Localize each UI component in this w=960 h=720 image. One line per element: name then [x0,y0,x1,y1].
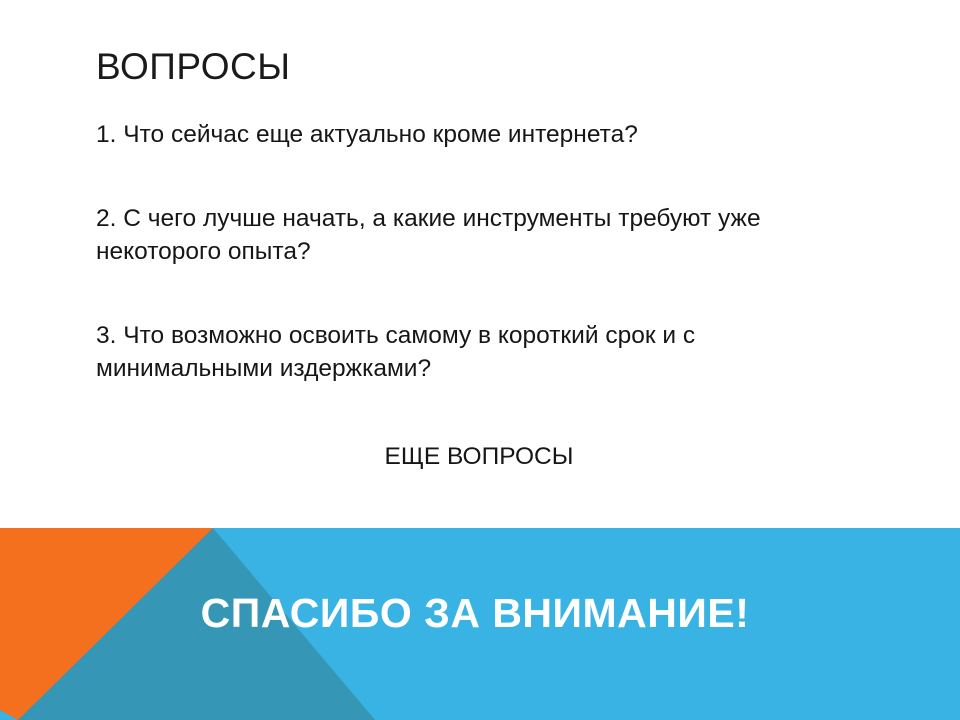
presentation-slide: ВОПРОСЫ 1. Что сейчас еще актуально кром… [0,0,960,720]
more-questions-label: ЕЩЕ ВОПРОСЫ [96,440,872,473]
spacer [96,151,872,202]
page-title: ВОПРОСЫ [96,45,290,89]
question-item-2: 2. С чего лучше начать, а какие инструме… [96,202,872,268]
question-item-1: 1. Что сейчас еще актуально кроме интерн… [96,118,872,151]
spacer [96,385,872,440]
questions-list: 1. Что сейчас еще актуально кроме интерн… [96,118,872,473]
banner-graphic [0,528,960,720]
bottom-banner: СПАСИБО ЗА ВНИМАНИЕ! [0,528,960,720]
spacer [96,268,872,319]
question-item-3: 3. Что возможно освоить самому в коротки… [96,319,872,385]
